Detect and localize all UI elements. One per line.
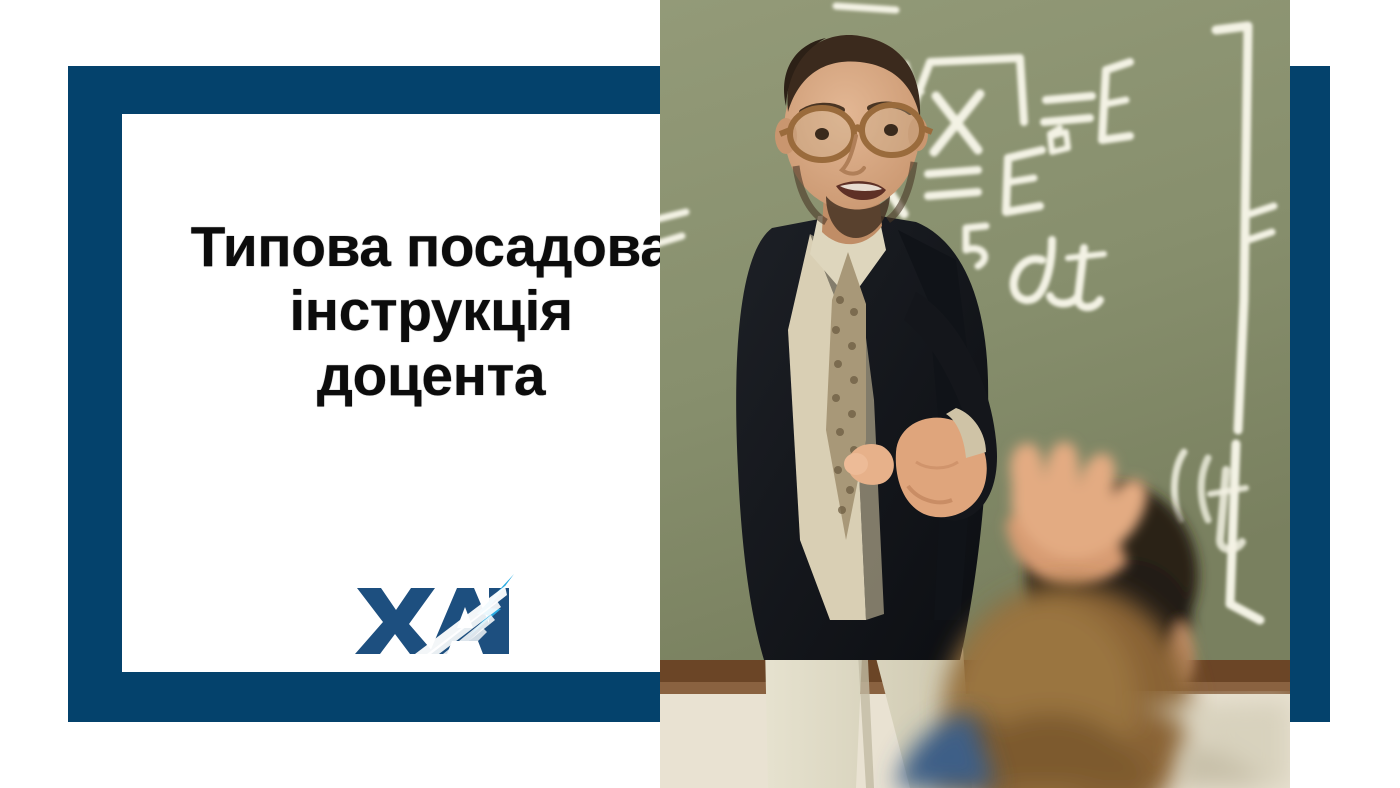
lecture-photo: [660, 0, 1290, 788]
khai-logo-graphic: [355, 562, 515, 656]
slide-root: Типова посадова інструкція доцента: [0, 0, 1400, 788]
khai-logo: [355, 562, 515, 656]
lecture-photo-graphic: [660, 0, 1290, 788]
page-title: Типова посадова інструкція доцента: [122, 215, 740, 408]
